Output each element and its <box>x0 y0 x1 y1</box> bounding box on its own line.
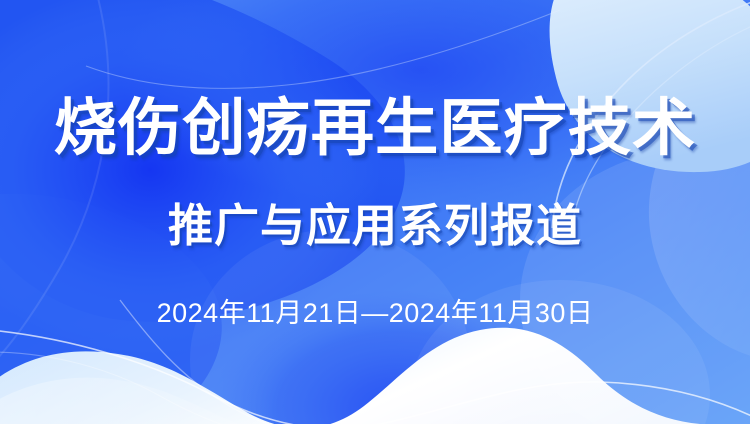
banner-content: 烧伤创疡再生医疗技术 推广与应用系列报道 2024年11月21日—2024年11… <box>0 0 750 424</box>
date-range-label: 2024年11月21日—2024年11月30日 <box>0 300 750 327</box>
promo-banner: 烧伤创疡再生医疗技术 推广与应用系列报道 2024年11月21日—2024年11… <box>0 0 750 424</box>
page-subtitle: 推广与应用系列报道 <box>0 203 750 248</box>
page-title: 烧伤创疡再生医疗技术 <box>0 98 750 160</box>
